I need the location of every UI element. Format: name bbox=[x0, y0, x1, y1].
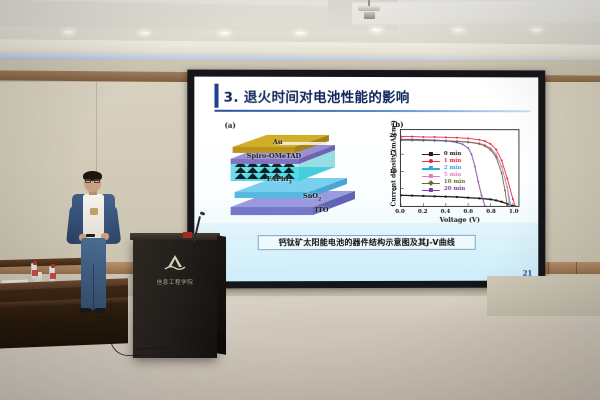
x-tick-label: 0.6 bbox=[464, 209, 474, 215]
figure-b-jv-chart: (b) Current density (mA/cm²) 5101520 0.0… bbox=[370, 121, 527, 229]
floor-cable bbox=[110, 300, 140, 356]
legend-marker bbox=[429, 152, 433, 156]
legend-label: 0 min bbox=[444, 151, 462, 157]
series-0-min bbox=[401, 194, 514, 206]
layer-label-au: Au bbox=[273, 138, 283, 146]
slide-title-bar: 3. 退火时间对电池性能的影响 bbox=[214, 83, 526, 110]
podium-side-panel bbox=[217, 235, 226, 354]
legend-marker bbox=[429, 166, 433, 170]
legend-marker bbox=[429, 174, 433, 178]
shoe-left bbox=[80, 308, 92, 313]
projector-body bbox=[358, 6, 380, 11]
presentation-clicker-icon bbox=[86, 234, 95, 237]
legend-label: 20 min bbox=[444, 186, 465, 192]
legend-label: 5 min bbox=[444, 172, 462, 178]
ceiling-downlight bbox=[138, 31, 151, 35]
layer-label-sno2: SnO2 bbox=[303, 192, 321, 202]
tshirt bbox=[83, 194, 104, 238]
podium-org-label: 信息工程学院 bbox=[157, 278, 194, 286]
ceiling-downlight bbox=[530, 28, 543, 32]
ceiling-downlight bbox=[218, 31, 231, 35]
leg-seam bbox=[93, 264, 94, 310]
lecture-hall-scene: 3. 退火时间对电池性能的影响 (a) bbox=[0, 0, 600, 400]
legend-marker bbox=[429, 188, 433, 192]
layer-label-fapbi3: FAPbI3 bbox=[267, 175, 292, 185]
bottle-label bbox=[32, 270, 38, 276]
ceiling-panel-right bbox=[352, 0, 600, 25]
y-tick-label: 20 bbox=[385, 133, 397, 139]
podium-top-surface bbox=[130, 233, 220, 240]
x-tick-label: 0.4 bbox=[441, 209, 451, 215]
university-emblem-icon bbox=[162, 254, 188, 272]
wall-panel-right bbox=[545, 82, 600, 272]
legend-label: 10 min bbox=[444, 179, 465, 185]
tshirt-graphic bbox=[90, 208, 98, 215]
page-title: 3. 退火时间对电池性能的影响 bbox=[224, 86, 410, 106]
room-right-lower-wall bbox=[487, 276, 600, 316]
figure-a-device-structure: (a) bbox=[217, 121, 365, 227]
ceiling-downlight bbox=[294, 31, 307, 35]
podium: 信息工程学院 bbox=[133, 238, 217, 358]
ceiling-downlight bbox=[370, 28, 383, 32]
bottle-cap bbox=[51, 264, 55, 268]
projector-icon bbox=[364, 12, 375, 19]
slide-canvas: 3. 退火时间对电池性能的影响 (a) bbox=[194, 77, 538, 282]
y-tick-label: 5 bbox=[385, 186, 397, 192]
figure-caption: 钙钛矿太阳能电池的器件结构示意图及其J-V曲线 bbox=[279, 237, 455, 248]
bottle-cap bbox=[33, 261, 37, 265]
shoe-right bbox=[94, 308, 106, 313]
y-tick-label: 10 bbox=[385, 169, 397, 175]
x-axis-label: Voltage (V) bbox=[400, 216, 519, 224]
y-tick-label: 15 bbox=[385, 151, 397, 157]
podium-red-tag bbox=[183, 232, 192, 238]
projection-screen[interactable]: 3. 退火时间对电池性能的影响 (a) bbox=[187, 70, 545, 289]
x-tick-label: 1.0 bbox=[509, 209, 519, 215]
x-tick-label: 0.0 bbox=[395, 209, 405, 215]
ceiling-downlight bbox=[452, 28, 465, 32]
legend-label: 2 min bbox=[444, 165, 462, 171]
layer-label-spiro: Spiro-OMeTAD bbox=[247, 152, 302, 160]
slide-lower-background bbox=[194, 223, 538, 282]
legend-label: 1 min bbox=[444, 158, 462, 164]
floor-cable bbox=[132, 348, 170, 358]
glasses-bridge bbox=[85, 180, 100, 184]
title-accent-bar bbox=[214, 84, 218, 108]
x-tick-label: 0.8 bbox=[486, 209, 496, 215]
bottle-label bbox=[50, 273, 56, 279]
figure-caption-box: 钙钛矿太阳能电池的器件结构示意图及其J-V曲线 bbox=[258, 235, 476, 250]
water-bottle bbox=[31, 263, 37, 280]
x-tick-label: 0.2 bbox=[418, 209, 428, 215]
ceiling-downlight bbox=[62, 30, 75, 34]
layer-label-ito: ITO bbox=[315, 206, 329, 214]
